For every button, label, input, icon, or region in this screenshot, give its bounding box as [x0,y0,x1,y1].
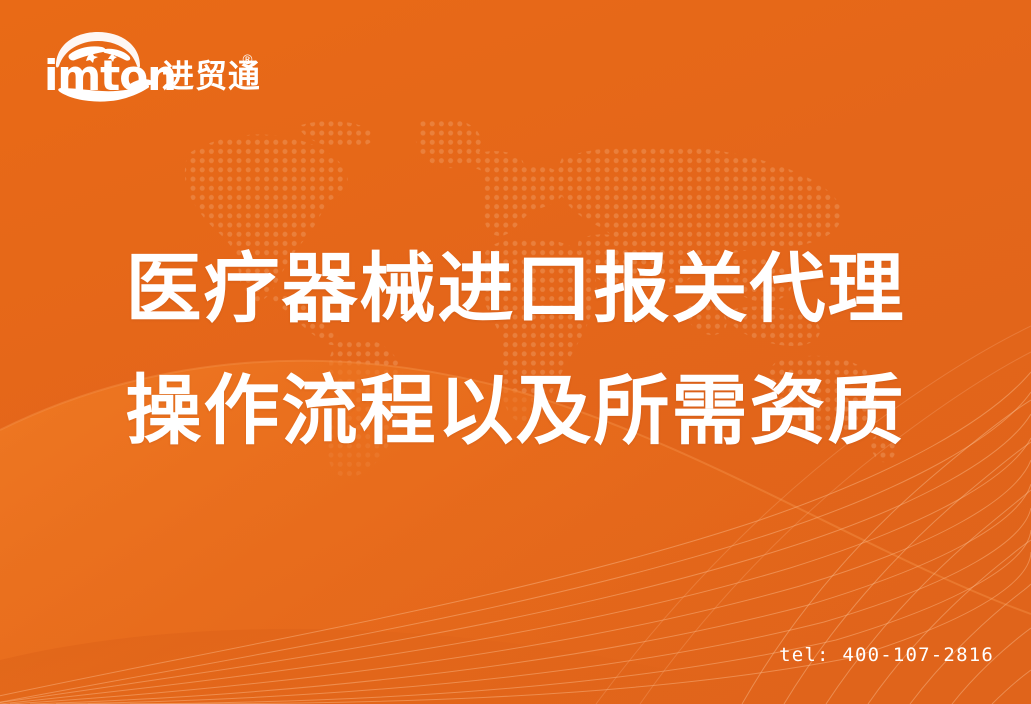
title-line-1: 医疗器械进口报关代理 [0,228,1031,350]
logo-latin-text: imton [44,51,176,100]
page-title: 医疗器械进口报关代理 操作流程以及所需资质 [0,228,1031,472]
poster-canvas: imton 进贸通 ® 医疗器械进口报关代理 操作流程以及所需资质 tel: 4… [0,0,1031,704]
contact-phone: tel: 400-107-2816 [779,644,994,666]
brand-logo[interactable]: imton 进贸通 ® [44,30,259,102]
title-line-2: 操作流程以及所需资质 [0,350,1031,472]
registered-trademark-icon: ® [241,53,254,68]
